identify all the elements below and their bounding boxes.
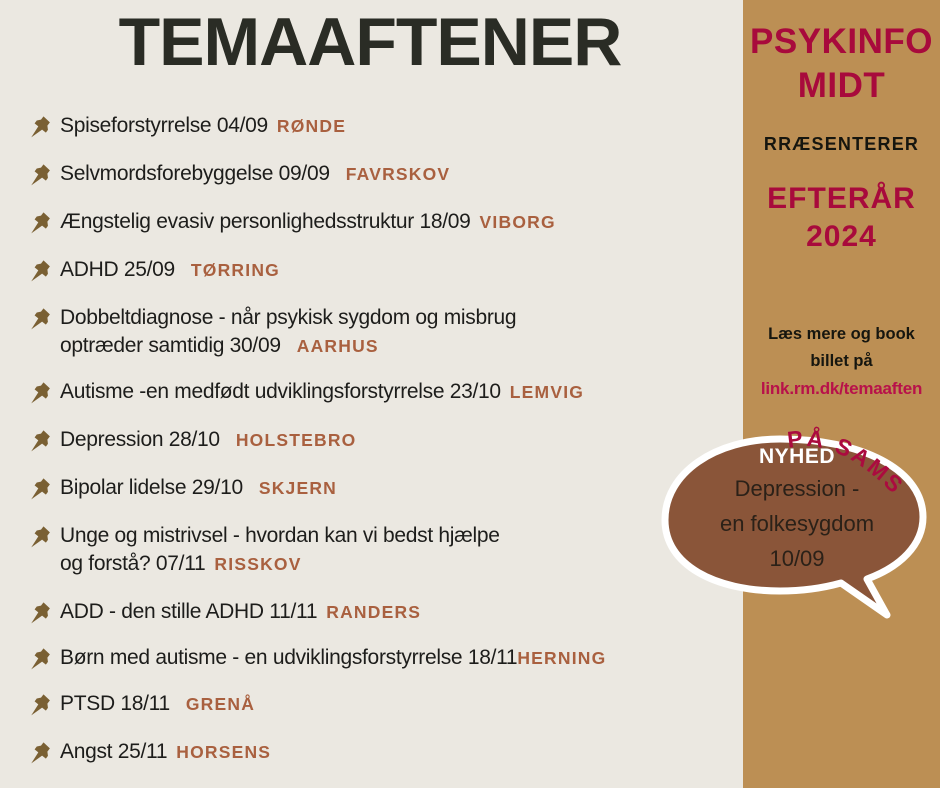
event-text: ADHD 25/09TØRRING (60, 256, 280, 284)
event-row[interactable]: ADHD 25/09TØRRING (28, 256, 280, 284)
pushpin-icon (28, 524, 54, 550)
pushpin-icon (28, 258, 54, 284)
event-text: Angst 25/11HORSENS (60, 738, 271, 766)
pushpin-icon (28, 162, 54, 188)
brand-line-1: PSYKINFO (743, 22, 940, 62)
season-label: EFTERÅR (743, 182, 940, 216)
event-city: HERNING (517, 648, 606, 668)
event-title: Ængstelig evasiv personlighedsstruktur 1… (60, 210, 471, 233)
event-title-continued: og forstå? 07/11 (60, 552, 205, 575)
speech-bubble-text: NYHED Depression - en folkesygdom 10/09 (677, 443, 917, 576)
pushpin-icon (28, 600, 54, 626)
event-title: PTSD 18/11 (60, 692, 170, 715)
booking-info-line-1: Læs mere og book (747, 325, 936, 344)
news-badge: NYHED (677, 443, 917, 471)
poster-canvas: TEMAAFTENER Spiseforstyrrelse 04/09RØNDE… (0, 0, 940, 788)
pushpin-icon (28, 740, 54, 766)
booking-link[interactable]: link.rm.dk/temaaften (743, 379, 940, 399)
pushpin-icon (28, 692, 54, 718)
event-title: Børn med autisme - en udviklingsforstyrr… (60, 646, 517, 669)
pushpin-icon (28, 646, 54, 672)
event-text: Depression 28/10HOLSTEBRO (60, 426, 356, 454)
event-city: LEMVIG (510, 382, 584, 402)
pushpin-icon (28, 428, 54, 454)
event-text: Dobbeltdiagnose - når psykisk sygdom og … (60, 304, 516, 360)
event-city: RANDERS (326, 602, 421, 622)
event-title: Dobbeltdiagnose - når psykisk sygdom og … (60, 306, 516, 329)
event-row[interactable]: Angst 25/11HORSENS (28, 738, 271, 766)
event-title: Angst 25/11 (60, 740, 167, 763)
event-city: AARHUS (297, 336, 379, 356)
pushpin-icon (28, 476, 54, 502)
event-title-line-2: og forstå? 07/11RISSKOV (60, 550, 500, 578)
pushpin-icon (28, 428, 54, 454)
event-title-continued: optræder samtidig 30/09 (60, 334, 281, 357)
bubble-line-2: en folkesygdom (677, 506, 917, 541)
event-row[interactable]: Depression 28/10HOLSTEBRO (28, 426, 356, 454)
event-title: Autisme -en medfødt udviklingsforstyrrel… (60, 380, 501, 403)
event-title-line-2: optræder samtidig 30/09AARHUS (60, 332, 516, 360)
event-title: Spiseforstyrrelse 04/09 (60, 114, 268, 137)
event-city: VIBORG (480, 212, 556, 232)
pushpin-icon (28, 114, 54, 140)
event-text: PTSD 18/11GRENÅ (60, 690, 255, 718)
event-text: ADD - den stille ADHD 11/11RANDERS (60, 598, 421, 626)
event-city: HOLSTEBRO (236, 430, 357, 450)
event-row[interactable]: Selvmordsforebyggelse 09/09FAVRSKOV (28, 160, 450, 188)
event-list: Spiseforstyrrelse 04/09RØNDESelvmordsfor… (0, 0, 745, 788)
bubble-line-1: Depression - (677, 471, 917, 506)
pushpin-icon (28, 380, 54, 406)
event-city: FAVRSKOV (346, 164, 451, 184)
event-title: Unge og mistrivsel - hvordan kan vi beds… (60, 524, 500, 547)
sidebar-panel: PSYKINFO MIDT RRÆSENTERER EFTERÅR 2024 L… (743, 0, 940, 788)
bubble-line-3: 10/09 (677, 541, 917, 576)
brand-line-2: MIDT (743, 66, 940, 106)
pushpin-icon (28, 258, 54, 284)
event-row[interactable]: Spiseforstyrrelse 04/09RØNDE (28, 112, 346, 140)
event-title: Depression 28/10 (60, 428, 220, 451)
year-label: 2024 (743, 220, 940, 254)
event-text: Autisme -en medfødt udviklingsforstyrrel… (60, 378, 584, 406)
pushpin-icon (28, 114, 54, 140)
event-title: Selvmordsforebyggelse 09/09 (60, 162, 330, 185)
presents-label: RRÆSENTERER (743, 134, 940, 155)
event-title: ADHD 25/09 (60, 258, 175, 281)
event-row[interactable]: Autisme -en medfødt udviklingsforstyrrel… (28, 378, 584, 406)
pushpin-icon (28, 210, 54, 236)
event-row[interactable]: PTSD 18/11GRENÅ (28, 690, 255, 718)
pushpin-icon (28, 740, 54, 766)
event-row[interactable]: Unge og mistrivsel - hvordan kan vi beds… (28, 522, 500, 578)
event-title: ADD - den stille ADHD 11/11 (60, 600, 317, 623)
pushpin-icon (28, 476, 54, 502)
pushpin-icon (28, 692, 54, 718)
event-city: TØRRING (191, 260, 280, 280)
news-speech-bubble: NYHED Depression - en folkesygdom 10/09 … (655, 425, 940, 640)
pushpin-icon (28, 600, 54, 626)
pushpin-icon (28, 162, 54, 188)
event-text: Spiseforstyrrelse 04/09RØNDE (60, 112, 346, 140)
event-text: Bipolar lidelse 29/10SKJERN (60, 474, 337, 502)
event-city: RISSKOV (214, 554, 301, 574)
pushpin-icon (28, 646, 54, 672)
event-text: Børn med autisme - en udviklingsforstyrr… (60, 644, 606, 672)
event-text: Unge og mistrivsel - hvordan kan vi beds… (60, 522, 500, 578)
event-row[interactable]: Dobbeltdiagnose - når psykisk sygdom og … (28, 304, 516, 360)
event-city: HORSENS (176, 742, 271, 762)
pushpin-icon (28, 306, 54, 332)
event-city: RØNDE (277, 116, 346, 136)
event-row[interactable]: ADD - den stille ADHD 11/11RANDERS (28, 598, 421, 626)
booking-info-line-2: billet på (747, 352, 936, 371)
pushpin-icon (28, 524, 54, 550)
event-row[interactable]: Ængstelig evasiv personlighedsstruktur 1… (28, 208, 556, 236)
event-row[interactable]: Bipolar lidelse 29/10SKJERN (28, 474, 337, 502)
event-row[interactable]: Børn med autisme - en udviklingsforstyrr… (28, 644, 606, 672)
pushpin-icon (28, 380, 54, 406)
pushpin-icon (28, 210, 54, 236)
event-title: Bipolar lidelse 29/10 (60, 476, 243, 499)
event-city: SKJERN (259, 478, 337, 498)
event-text: Ængstelig evasiv personlighedsstruktur 1… (60, 208, 556, 236)
pushpin-icon (28, 306, 54, 332)
event-text: Selvmordsforebyggelse 09/09FAVRSKOV (60, 160, 450, 188)
event-city: GRENÅ (186, 694, 255, 714)
